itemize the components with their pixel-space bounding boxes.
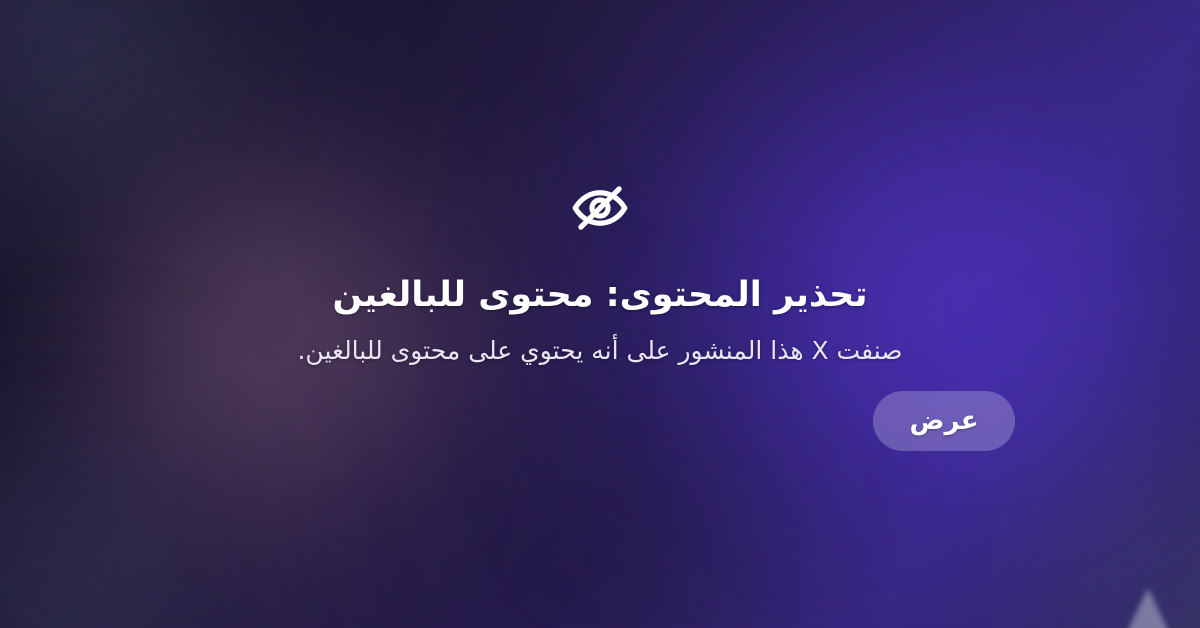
warning-content: تحذير المحتوى: محتوى للبالغين صنفت X هذا…: [0, 0, 1200, 628]
warning-description: صنفت X هذا المنشور على أنه يحتوي على محت…: [297, 334, 902, 369]
view-button[interactable]: عرض: [873, 391, 1015, 451]
eye-off-icon: [569, 177, 631, 239]
warning-actions: عرض: [185, 391, 1015, 451]
content-warning-overlay: تحذير المحتوى: محتوى للبالغين صنفت X هذا…: [0, 0, 1200, 628]
warning-title: تحذير المحتوى: محتوى للبالغين: [333, 273, 868, 318]
